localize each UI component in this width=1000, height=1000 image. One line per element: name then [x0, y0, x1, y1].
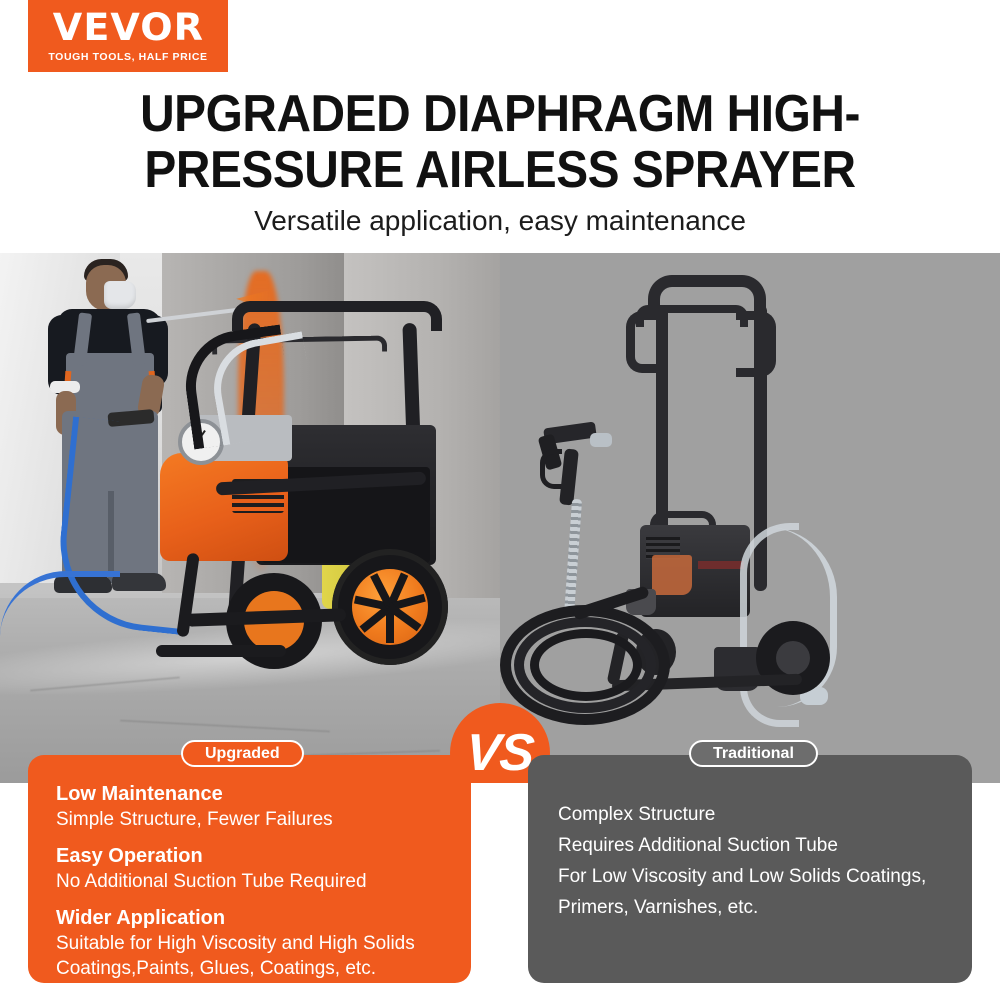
- feature-heading: Easy Operation: [56, 843, 443, 869]
- upgraded-pill-label: Upgraded: [205, 745, 280, 763]
- front-wheel-rim: [352, 569, 428, 645]
- front-wheel: [332, 549, 448, 665]
- feature-item: Wider Application Suitable for High Visc…: [56, 905, 443, 981]
- brand-tagline: TOUGH TOOLS, HALF PRICE: [48, 51, 207, 63]
- traditional-line: Complex Structure: [558, 799, 942, 830]
- trad-spray-gun-trigger: [540, 449, 562, 489]
- trad-unit-orange-panel: [652, 555, 692, 595]
- brand-wordmark: VEVOR: [52, 9, 203, 46]
- feature-body: Suitable for High Viscosity and High Sol…: [56, 931, 443, 981]
- trad-whip-hose: [564, 499, 582, 617]
- comparison-image-band: VS: [0, 253, 1000, 783]
- traditional-line: Requires Additional Suction Tube: [558, 830, 942, 861]
- trad-spray-gun-grip: [559, 448, 579, 505]
- upgraded-feature-card: Low Maintenance Simple Structure, Fewer …: [28, 755, 471, 983]
- vs-label: VS: [464, 727, 535, 779]
- traditional-feature-card: Complex Structure Requires Additional Su…: [528, 755, 972, 983]
- trad-unit-stripe: [698, 561, 744, 569]
- vevor-logo: VEVOR TOUGH TOOLS, HALF PRICE: [28, 0, 228, 72]
- traditional-line: Primers, Varnishes, etc.: [558, 892, 942, 923]
- traditional-pill-label: Traditional: [713, 745, 794, 763]
- traditional-product-photo: [500, 253, 1000, 783]
- traditional-pill-badge: Traditional: [689, 740, 818, 767]
- worker-face-mask: [104, 281, 136, 309]
- trad-wheel-hub: [776, 641, 810, 675]
- product-comparison-page: VEVOR TOUGH TOOLS, HALF PRICE UPGRADED D…: [0, 0, 1000, 1000]
- upgraded-pill-badge: Upgraded: [181, 740, 304, 767]
- traditional-line: For Low Viscosity and Low Solids Coating…: [558, 861, 942, 892]
- feature-heading: Low Maintenance: [56, 781, 443, 807]
- feature-item: Easy Operation No Additional Suction Tub…: [56, 843, 443, 894]
- feature-body: Simple Structure, Fewer Failures: [56, 807, 443, 832]
- upgraded-feature-list: Low Maintenance Simple Structure, Fewer …: [28, 755, 471, 983]
- upgraded-product-photo: [0, 253, 500, 783]
- trad-hose-coil: [530, 629, 642, 701]
- trad-spray-gun-tip: [590, 433, 612, 447]
- page-subtitle: Versatile application, easy maintenance: [0, 205, 1000, 237]
- cart-foot-bar: [156, 645, 286, 657]
- feature-item: Low Maintenance Simple Structure, Fewer …: [56, 781, 443, 832]
- feature-body: No Additional Suction Tube Required: [56, 869, 443, 894]
- page-title: UPGRADED DIAPHRAGM HIGH-PRESSURE AIRLESS…: [40, 86, 960, 198]
- traditional-feature-list: Complex Structure Requires Additional Su…: [528, 755, 972, 983]
- feature-heading: Wider Application: [56, 905, 443, 931]
